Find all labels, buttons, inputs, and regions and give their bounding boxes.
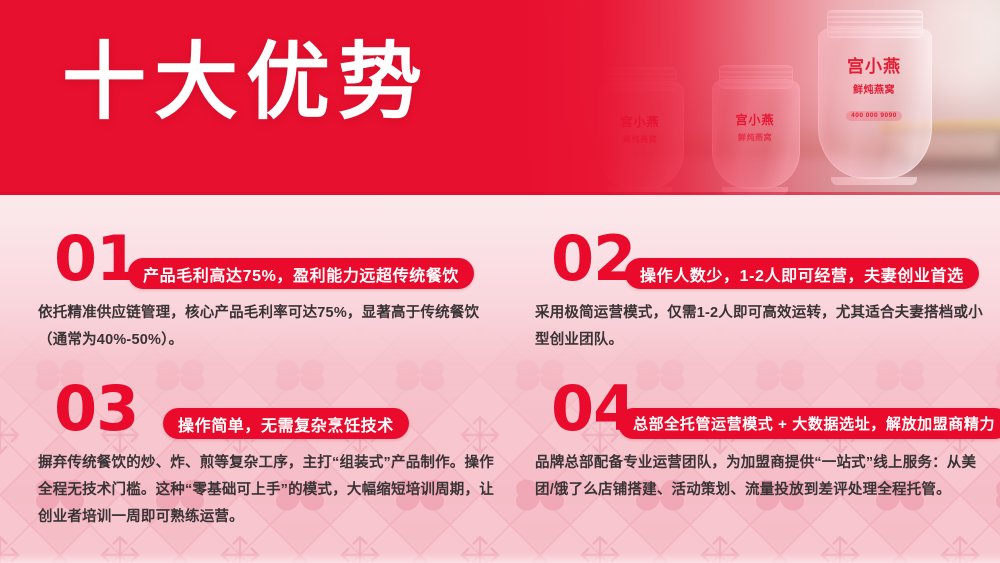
advantage-number: 02 <box>551 228 635 290</box>
advantage-header: 02 操作人数少，1-2人即可经营，夫妻创业首选 <box>525 232 1000 294</box>
advantage-description: 品牌总部配备专业运营团队，为加盟商提供“一站式”线上服务：从美团/饿了么店铺搭建… <box>525 450 1000 504</box>
advantage-header: 04 总部全托管运营模式 + 大数据选址，解放加盟商精力 <box>525 382 1000 444</box>
advantage-title-badge: 操作人数少，1-2人即可经营，夫妻创业首选 <box>625 258 979 289</box>
advantage-title-badge: 操作简单，无需复杂烹饪技术 <box>163 408 409 439</box>
header-banner: 宫小燕 鲜炖燕窝 宫小燕 鲜炖燕窝 宫小燕 鲜炖燕窝 400 000 9090 <box>0 0 1000 195</box>
advantage-number: 03 <box>54 378 138 440</box>
advantage-card-03: 03 操作简单，无需复杂烹饪技术 摒弃传统餐饮的炒、炸、煎等复杂工序，主打“组装… <box>28 382 503 563</box>
advantage-card-01: 01 产品毛利高达75%，盈利能力远超传统餐饮 依托精准供应链管理，核心产品毛利… <box>28 232 503 382</box>
page-title: 十大优势 <box>62 40 430 124</box>
advantage-title-badge: 产品毛利高达75%，盈利能力远超传统餐饮 <box>128 258 474 289</box>
advantage-number: 01 <box>54 228 138 290</box>
advantages-grid: 01 产品毛利高达75%，盈利能力远超传统餐饮 依托精准供应链管理，核心产品毛利… <box>0 195 1000 563</box>
advantage-title-badge: 总部全托管运营模式 + 大数据选址，解放加盟商精力 <box>618 408 1000 439</box>
advantage-description: 采用极简运营模式，仅需1-2人即可高效运转，尤其适合夫妻搭档或小型创业团队。 <box>525 300 1000 354</box>
advantage-header: 03 操作简单，无需复杂烹饪技术 <box>28 382 503 444</box>
advantage-card-04: 04 总部全托管运营模式 + 大数据选址，解放加盟商精力 品牌总部配备专业运营团… <box>525 382 1000 563</box>
advantage-description: 依托精准供应链管理，核心产品毛利率可达75%，显著高于传统餐饮（通常为40%-5… <box>28 300 503 354</box>
advantages-poster: 宫小燕 鲜炖燕窝 宫小燕 鲜炖燕窝 宫小燕 鲜炖燕窝 400 000 9090 <box>0 0 1000 563</box>
advantage-card-02: 02 操作人数少，1-2人即可经营，夫妻创业首选 采用极简运营模式，仅需1-2人… <box>525 232 1000 382</box>
advantage-header: 01 产品毛利高达75%，盈利能力远超传统餐饮 <box>28 232 503 294</box>
advantage-description: 摒弃传统餐饮的炒、炸、煎等复杂工序，主打“组装式”产品制作。操作全程无技术门槛。… <box>28 450 503 530</box>
